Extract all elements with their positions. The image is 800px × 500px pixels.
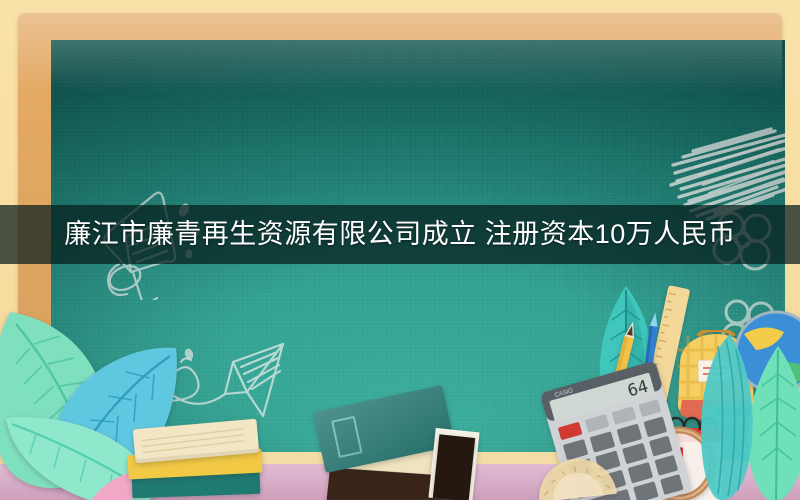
book-black-cover xyxy=(433,434,475,500)
protractor xyxy=(529,432,621,500)
leaf-blue-striped-right xyxy=(696,332,762,500)
thumbnail-canvas: 1 64 CASIO xyxy=(0,0,800,500)
caption-band: 廉江市廉青再生资源有限公司成立 注册资本10万人民币 xyxy=(0,205,800,264)
caption-text: 廉江市廉青再生资源有限公司成立 注册资本10万人民币 xyxy=(64,221,736,248)
